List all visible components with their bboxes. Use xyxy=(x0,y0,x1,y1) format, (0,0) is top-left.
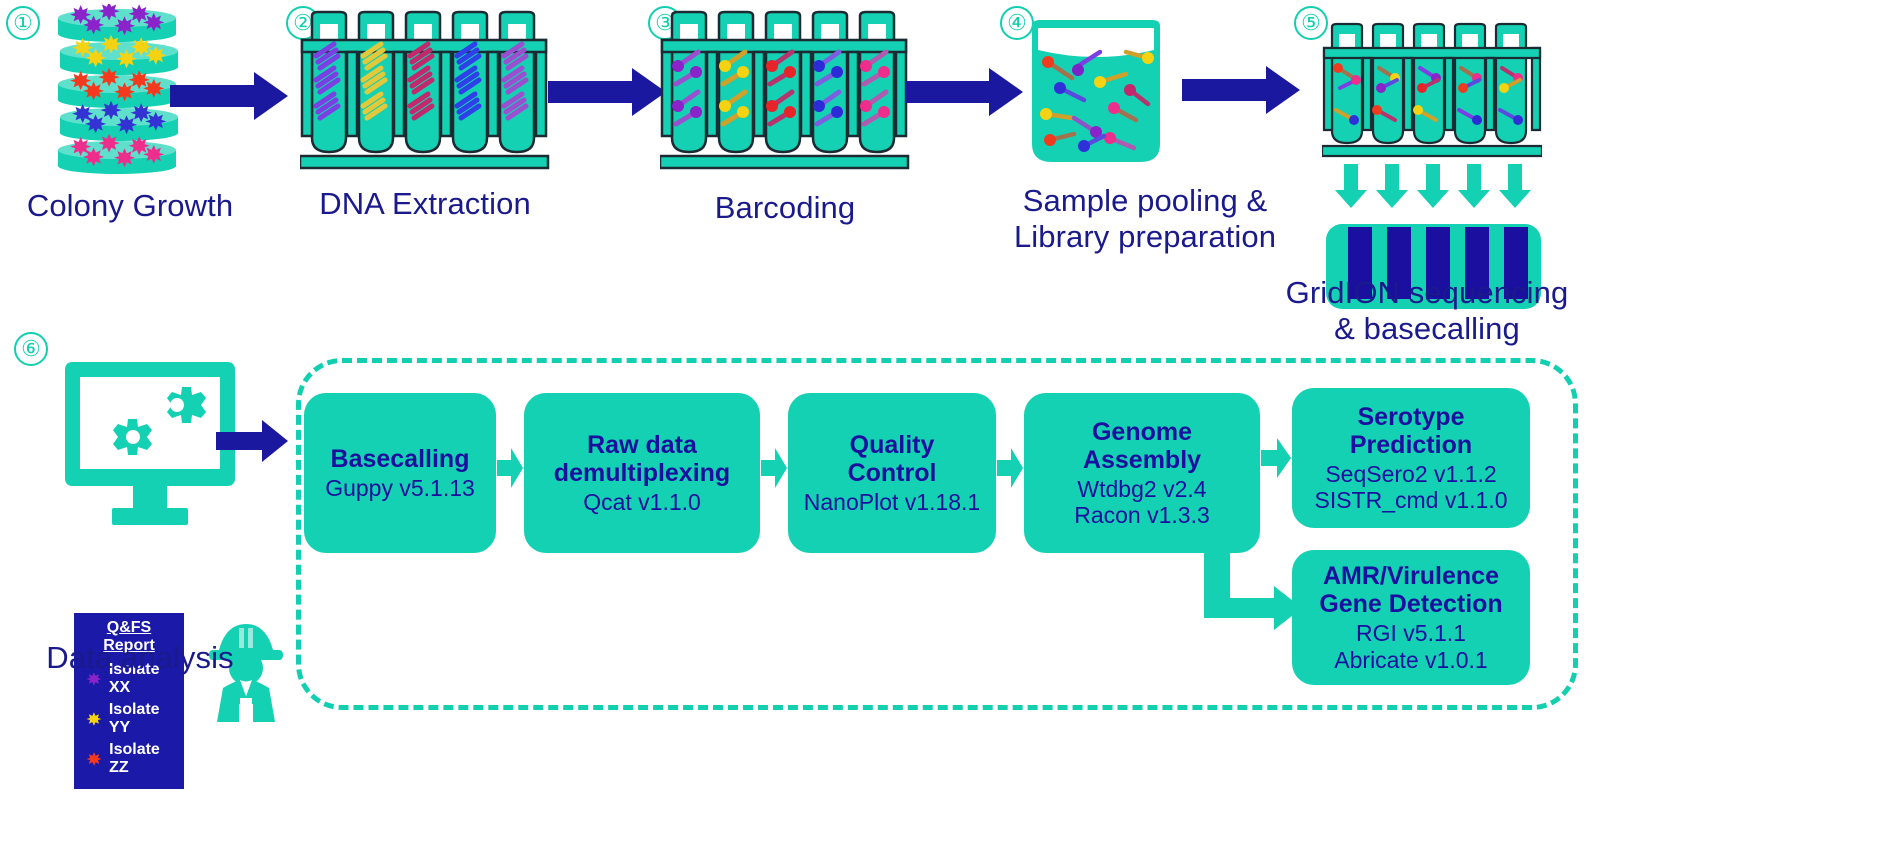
pipeline-node-tools: SeqSero2 v1.1.2 SISTR_cmd v1.1.0 xyxy=(1314,461,1507,513)
pipeline-branch-arrow-icon xyxy=(1192,540,1302,630)
pipeline-node-title: Genome Assembly xyxy=(1083,418,1201,474)
pipeline-node-tools: Qcat v1.1.0 xyxy=(583,489,701,515)
flow-arrow-4-icon xyxy=(1182,66,1300,114)
pipeline-node-quality-control[interactable]: Quality Control NanoPlot v1.18.1 xyxy=(788,393,996,553)
pipeline-node-tools: Wtdbg2 v2.4 Racon v1.3.3 xyxy=(1074,476,1210,528)
step-number-1: ① xyxy=(6,6,40,40)
report-row-label: Isolate ZZ xyxy=(109,741,176,777)
report-row-label: Isolate YY xyxy=(109,701,176,737)
pipeline-arrow-3-icon xyxy=(997,446,1023,490)
step-caption-2: DNA Extraction xyxy=(290,186,560,222)
workflow-diagram: ① xyxy=(0,0,1902,862)
flow-arrow-2-icon xyxy=(548,68,666,116)
pipeline-node-basecalling[interactable]: Basecalling Guppy v5.1.13 xyxy=(304,393,496,553)
pipeline-node-tools: Guppy v5.1.13 xyxy=(325,475,475,501)
pipeline-node-title: Basecalling xyxy=(331,445,470,473)
barcoding-rack-illustration xyxy=(660,10,910,170)
pipeline-arrow-4-icon xyxy=(1261,436,1291,480)
pipeline-node-tools: NanoPlot v1.18.1 xyxy=(804,489,980,515)
pipeline-node-demultiplexing[interactable]: Raw data demultiplexing Qcat v1.1.0 xyxy=(524,393,760,553)
step-caption-1: Colony Growth xyxy=(0,188,260,224)
beaker-pooling-illustration xyxy=(1026,18,1166,173)
dna-extraction-rack-illustration xyxy=(300,10,550,170)
pipeline-arrow-1-icon xyxy=(497,446,523,490)
pipeline-node-amr-virulence[interactable]: AMR/Virulence Gene Detection RGI v5.1.1 … xyxy=(1292,550,1530,685)
pipeline-node-genome-assembly[interactable]: Genome Assembly Wtdbg2 v2.4 Racon v1.3.3 xyxy=(1024,393,1260,553)
isolate-marker-icon xyxy=(86,710,102,728)
pipeline-node-title: Serotype Prediction xyxy=(1350,403,1472,459)
pipeline-node-tools: RGI v5.1.1 Abricate v1.0.1 xyxy=(1334,620,1487,672)
flow-arrow-1-icon xyxy=(170,72,288,120)
report-row: Isolate YY xyxy=(86,701,176,737)
step-caption-4: Sample pooling & Library preparation xyxy=(980,183,1310,255)
pipeline-node-serotype-prediction[interactable]: Serotype Prediction SeqSero2 v1.1.2 SIST… xyxy=(1292,388,1530,528)
step-caption-6: Data analysis xyxy=(10,640,270,676)
flow-arrow-6-icon xyxy=(216,420,288,462)
flow-arrow-3-icon xyxy=(905,68,1023,116)
isolate-marker-icon xyxy=(86,750,102,768)
report-row: Isolate ZZ xyxy=(86,741,176,777)
step-number-6: ⑥ xyxy=(14,332,48,366)
pipeline-node-title: AMR/Virulence Gene Detection xyxy=(1319,562,1502,618)
step-caption-3: Barcoding xyxy=(655,190,915,226)
pipeline-node-title: Quality Control xyxy=(848,431,937,487)
pipeline-node-title: Raw data demultiplexing xyxy=(554,431,730,487)
pipeline-arrow-2-icon xyxy=(761,446,787,490)
step-caption-5: GridION sequencing & basecalling xyxy=(1262,275,1592,347)
